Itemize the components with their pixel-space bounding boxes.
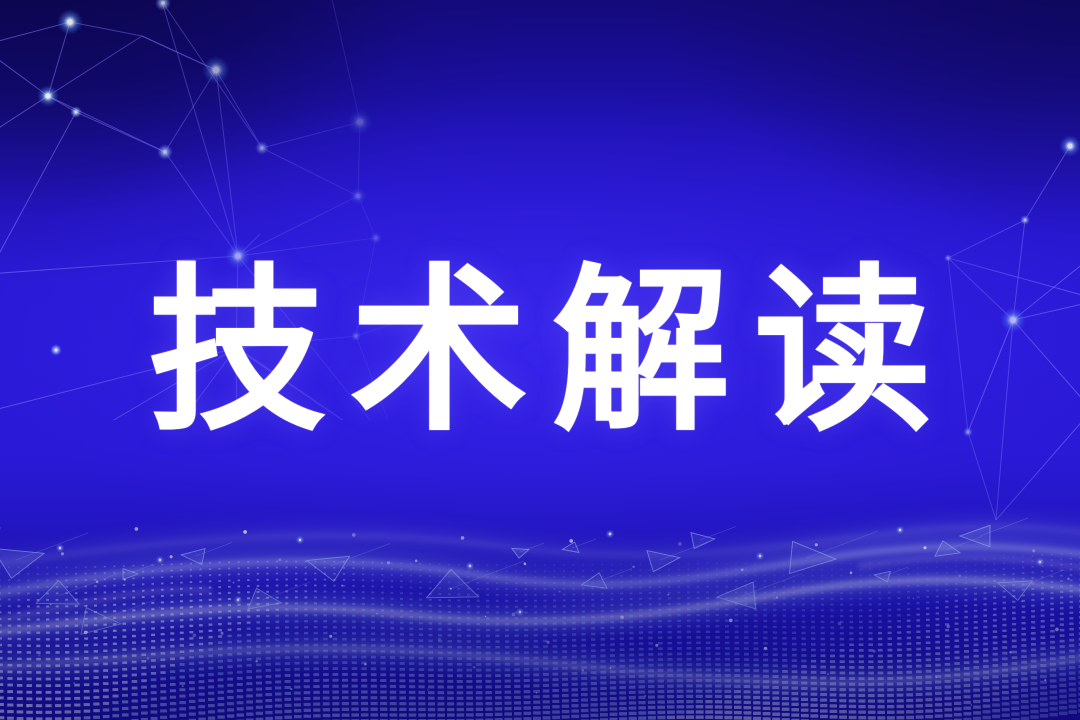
background-bottom-shade: [0, 470, 1080, 720]
page-title: 技术解读: [124, 263, 956, 441]
poster-title-container: 技术解读: [0, 252, 1080, 452]
poster-canvas: 技术解读: [0, 0, 1080, 720]
